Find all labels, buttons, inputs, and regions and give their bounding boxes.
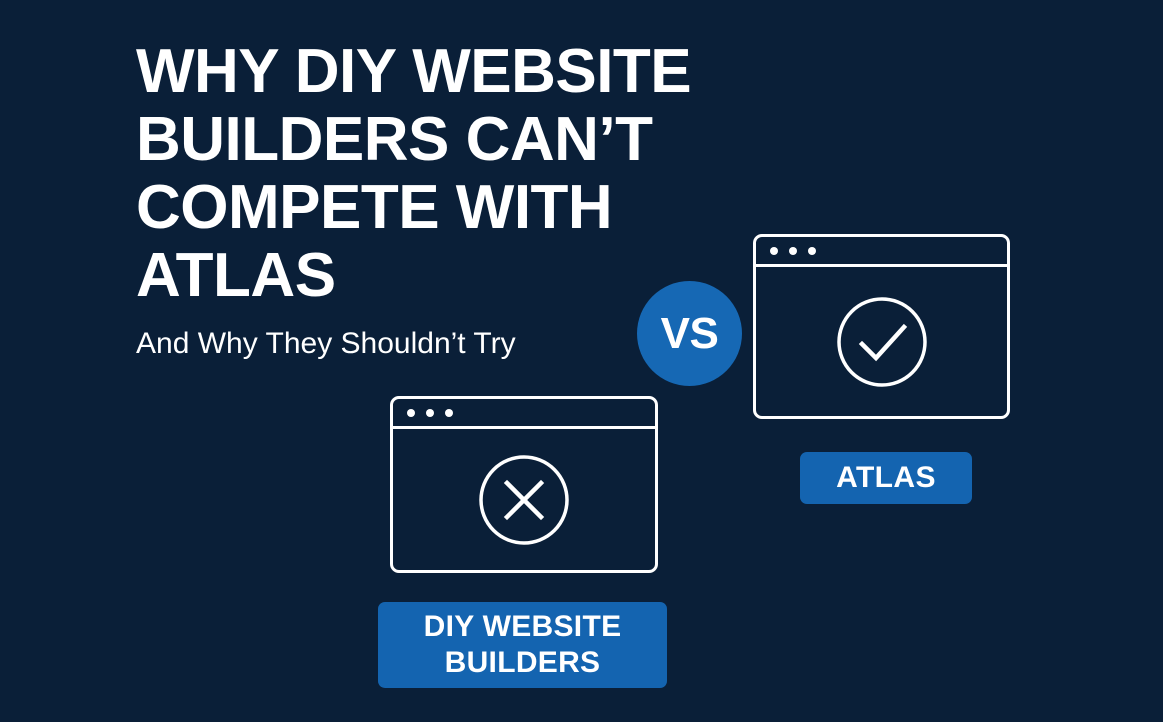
atlas-window-titlebar	[756, 237, 1007, 267]
headline-block: WHY DIY WEBSITE BUILDERS CAN’T COMPETE W…	[136, 38, 716, 362]
window-dot-icon	[808, 247, 816, 255]
page-subtitle: And Why They Shouldn’t Try	[136, 310, 716, 362]
diy-browser-window	[390, 396, 658, 573]
promo-graphic: WHY DIY WEBSITE BUILDERS CAN’T COMPETE W…	[0, 0, 1163, 722]
vs-badge: VS	[637, 281, 742, 386]
window-dot-icon	[445, 409, 453, 417]
diy-window-titlebar	[393, 399, 655, 429]
diy-label-button[interactable]: DIY WEBSITE BUILDERS	[378, 602, 667, 688]
atlas-window-body	[756, 267, 1007, 416]
check-circle-icon	[834, 294, 930, 390]
diy-window-body	[393, 429, 655, 570]
x-circle-icon	[476, 452, 572, 548]
window-dot-icon	[789, 247, 797, 255]
atlas-browser-window	[753, 234, 1010, 419]
vs-badge-label: VS	[661, 312, 719, 356]
window-dot-icon	[426, 409, 434, 417]
page-title: WHY DIY WEBSITE BUILDERS CAN’T COMPETE W…	[136, 38, 716, 310]
window-dot-icon	[407, 409, 415, 417]
window-dot-icon	[770, 247, 778, 255]
atlas-label-button[interactable]: ATLAS	[800, 452, 972, 504]
